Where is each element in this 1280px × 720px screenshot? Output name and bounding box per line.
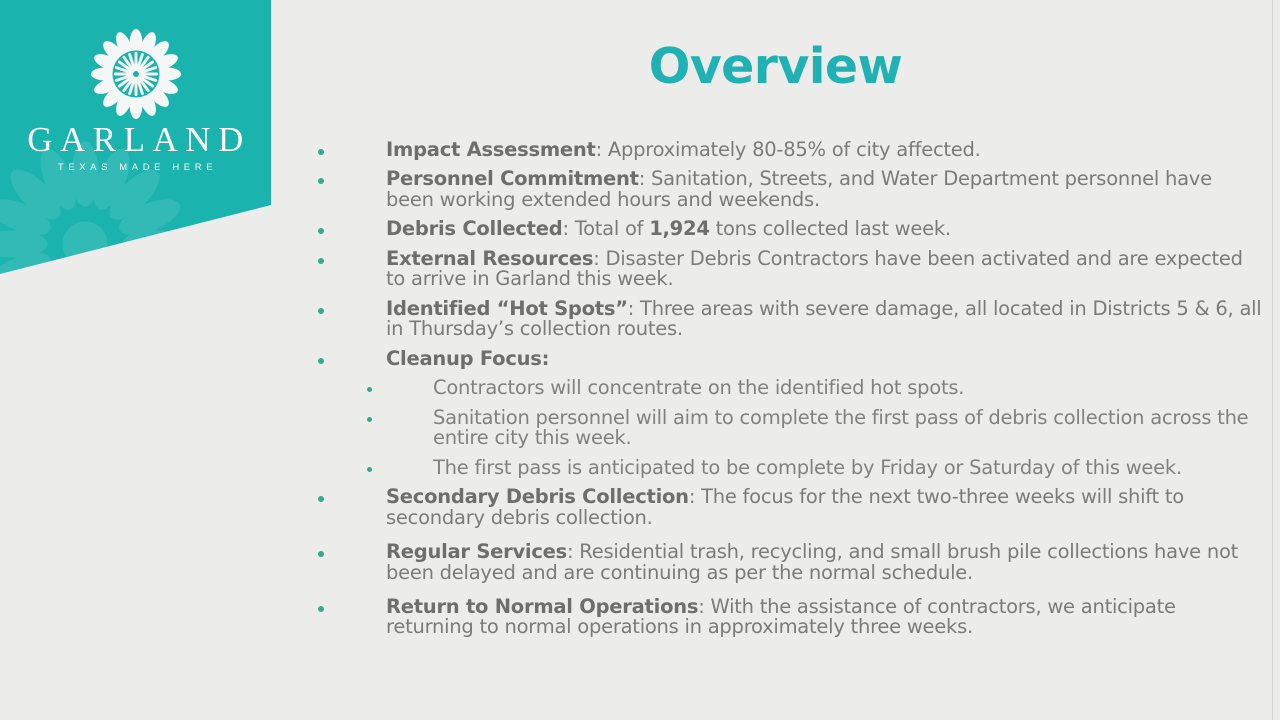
bullet-dot-icon <box>367 417 372 422</box>
list-item-separator: : <box>689 485 701 508</box>
bullet-list: Impact Assessment: Approximately 80-85% … <box>305 140 1263 647</box>
garland-rosette-crest-icon <box>90 28 182 120</box>
list-item-text: The first pass is anticipated to be comp… <box>433 456 1182 479</box>
bullet-dot-icon <box>318 496 324 502</box>
bullet-dot-icon <box>367 387 372 392</box>
list-item-lead: Debris Collected <box>386 217 562 240</box>
list-item-lead: Impact Assessment <box>386 138 596 161</box>
list-item-text-before: Total of <box>575 217 649 240</box>
bullet-dot-icon <box>318 228 324 234</box>
bullet-dot-icon <box>318 551 324 557</box>
bullet-dot-icon <box>318 178 324 184</box>
list-item-text: Approximately 80-85% of city affected. <box>608 138 981 161</box>
bullet-dot-icon <box>318 258 324 264</box>
debris-tonnage-value: 1,924 <box>649 217 709 240</box>
bullet-dot-icon <box>318 308 324 314</box>
list-item-separator: : <box>596 138 608 161</box>
nested-bullet-list: Contractors will concentrate on the iden… <box>305 378 1263 478</box>
list-item: Identified “Hot Spots”: Three areas with… <box>305 299 1263 340</box>
list-item: Impact Assessment: Approximately 80-85% … <box>305 140 1263 160</box>
list-item: Regular Services: Residential trash, rec… <box>305 542 1263 583</box>
list-item: Sanitation personnel will aim to complet… <box>305 408 1263 449</box>
presentation-slide: GARLAND TEXAS MADE HERE Overview Impact … <box>0 0 1280 720</box>
bullet-dot-icon <box>318 358 324 364</box>
list-item: Return to Normal Operations: With the as… <box>305 597 1263 638</box>
list-item: The first pass is anticipated to be comp… <box>305 458 1263 478</box>
list-item: Cleanup Focus: <box>305 349 1263 369</box>
garland-brand-panel: GARLAND TEXAS MADE HERE <box>0 0 271 274</box>
list-item-text: Contractors will concentrate on the iden… <box>433 376 964 399</box>
list-item: Secondary Debris Collection: The focus f… <box>305 487 1263 528</box>
list-item: Debris Collected: Total of 1,924 tons co… <box>305 219 1263 239</box>
list-item: Contractors will concentrate on the iden… <box>305 378 1263 398</box>
list-item-text: Sanitation personnel will aim to complet… <box>433 406 1248 449</box>
list-item: External Resources: Disaster Debris Cont… <box>305 249 1263 290</box>
list-item-text-after: tons collected last week. <box>710 217 951 240</box>
garland-wordmark: GARLAND <box>0 122 271 157</box>
garland-tagline: TEXAS MADE HERE <box>0 163 271 173</box>
bullet-dot-icon <box>367 467 372 472</box>
list-item-lead: Cleanup Focus: <box>386 347 549 370</box>
list-item-separator: : <box>562 217 574 240</box>
bullet-dot-icon <box>318 149 324 155</box>
bullet-dot-icon <box>318 606 324 612</box>
list-item: Personnel Commitment: Sanitation, Street… <box>305 169 1263 210</box>
page-title: Overview <box>271 41 1280 92</box>
